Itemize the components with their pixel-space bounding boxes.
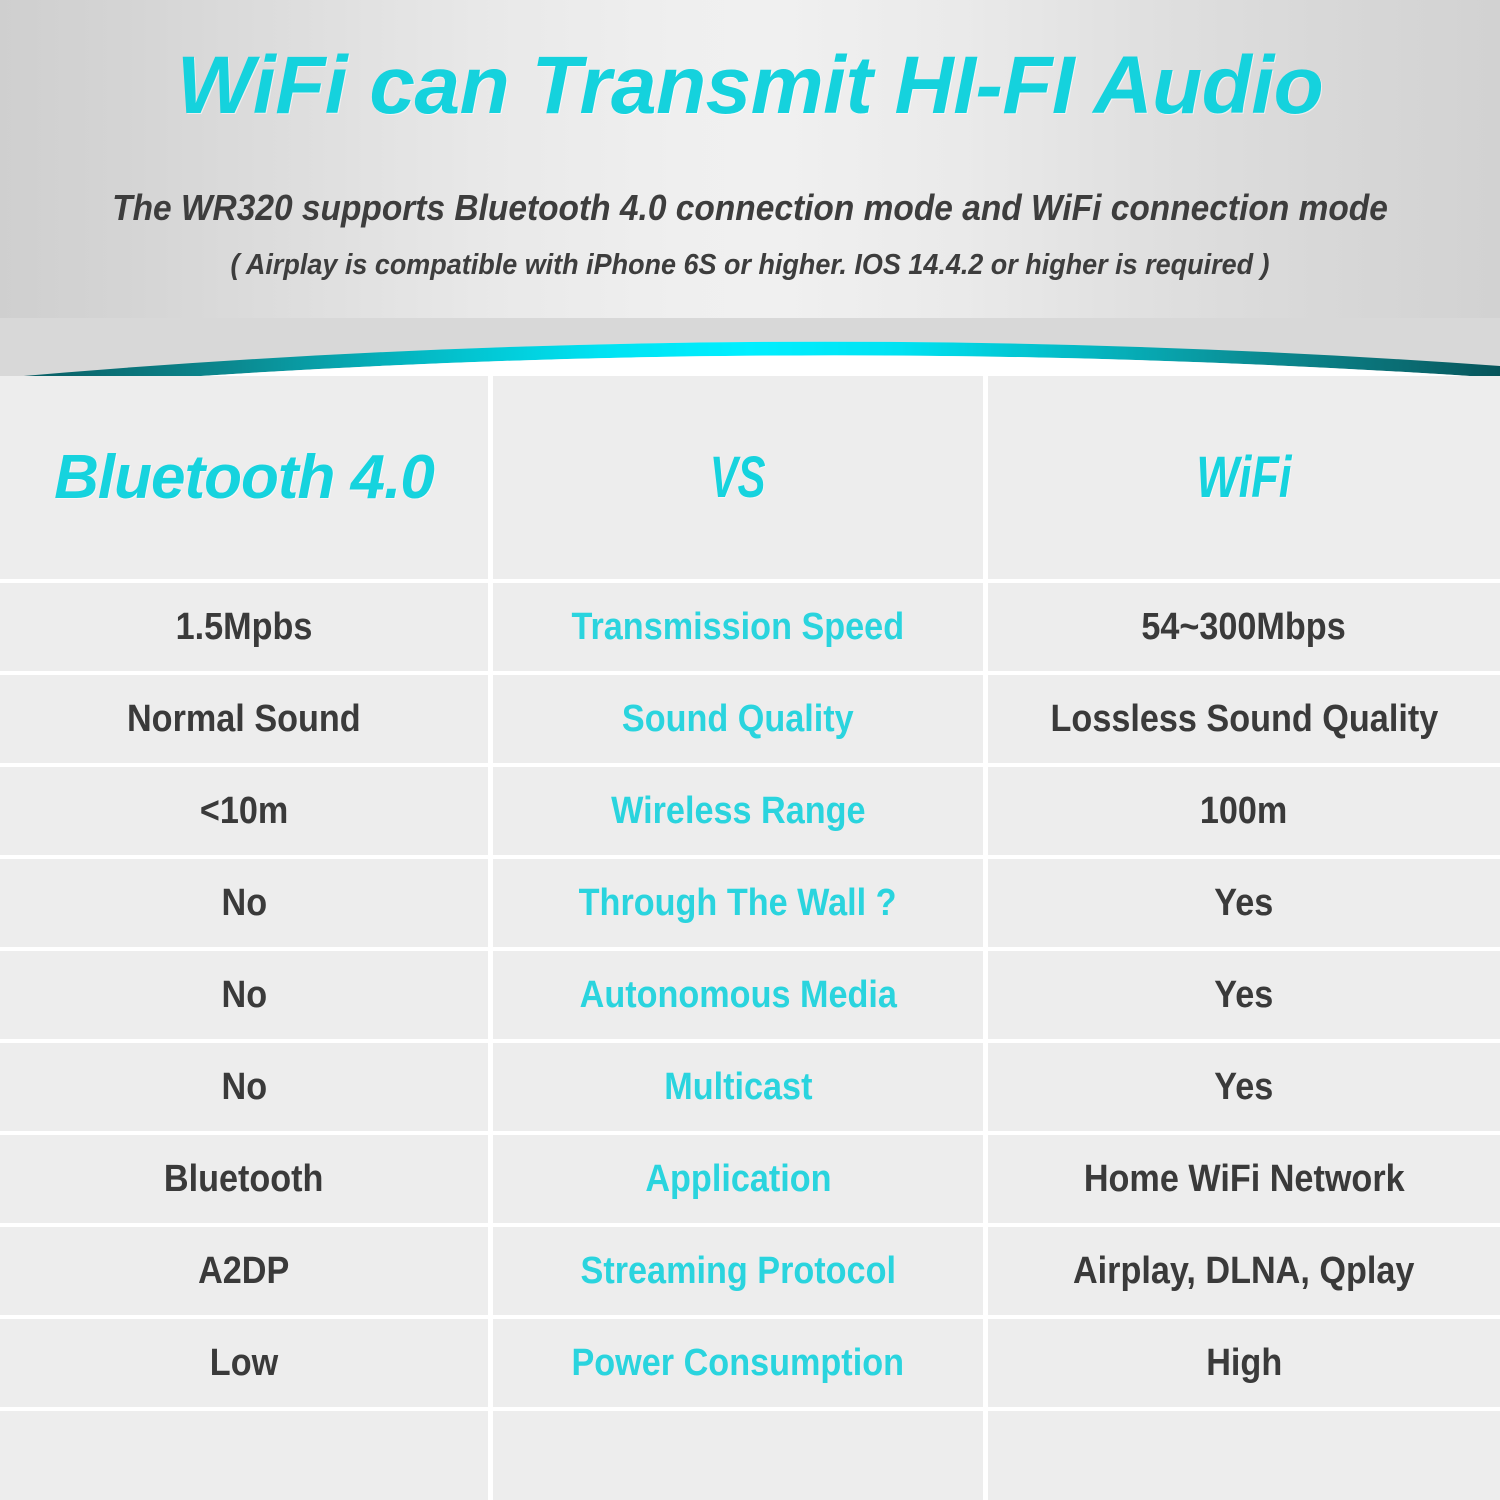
table-body: 1.5MpbsTransmission Speed54~300MbpsNorma… [0, 583, 1500, 1500]
table-cell-bluetooth: 1.5Mpbs [0, 583, 488, 671]
column-header-vs: VS [710, 445, 766, 511]
cell-text-bluetooth: 1.5Mpbs [176, 605, 313, 649]
table-header-row: Bluetooth 4.0 VS WiFi [0, 376, 1500, 579]
comparison-infographic: WiFi can Transmit HI-FI Audio The WR320 … [0, 0, 1500, 1500]
table-cell-wifi: Yes [988, 951, 1500, 1039]
cell-text-wifi: Airplay, DLNA, Qplay [1073, 1249, 1414, 1293]
cell-text-vs: Streaming Protocol [580, 1249, 895, 1293]
table-cell-vs [493, 1411, 983, 1500]
table-header-cell-vs: VS [493, 376, 983, 579]
table-row: NoAutonomous MediaYes [0, 951, 1500, 1039]
cell-text-bluetooth: No [221, 881, 267, 925]
column-header-wifi: WiFi [1196, 445, 1291, 511]
column-header-bluetooth: Bluetooth 4.0 [54, 445, 434, 511]
cell-text-wifi: 100m [1200, 789, 1287, 833]
table-row: Normal SoundSound QualityLossless Sound … [0, 675, 1500, 763]
cell-text-bluetooth: No [221, 973, 267, 1017]
table-cell-wifi: Yes [988, 1043, 1500, 1131]
table-cell-vs: Multicast [493, 1043, 983, 1131]
cell-text-vs: Sound Quality [622, 697, 854, 741]
cell-text-bluetooth: A2DP [198, 1249, 289, 1293]
table-cell-vs: Transmission Speed [493, 583, 983, 671]
cell-text-wifi: 54~300Mbps [1142, 605, 1346, 649]
table-cell-bluetooth: <10m [0, 767, 488, 855]
table-cell-wifi: 54~300Mbps [988, 583, 1500, 671]
table-cell-bluetooth: Low [0, 1319, 488, 1407]
table-cell-vs: Power Consumption [493, 1319, 983, 1407]
table-header-cell-bluetooth: Bluetooth 4.0 [0, 376, 488, 579]
cell-text-wifi: Yes [1215, 881, 1274, 925]
table-cell-vs: Sound Quality [493, 675, 983, 763]
table-cell-vs: Streaming Protocol [493, 1227, 983, 1315]
table-cell-wifi: Home WiFi Network [988, 1135, 1500, 1223]
subtitle-line-2: ( Airplay is compatible with iPhone 6S o… [53, 245, 1448, 285]
table-cell-bluetooth: Bluetooth [0, 1135, 488, 1223]
page-title: WiFi can Transmit HI-FI Audio [0, 38, 1500, 134]
table-cell-bluetooth: No [0, 1043, 488, 1131]
table-row: BluetoothApplicationHome WiFi Network [0, 1135, 1500, 1223]
cell-text-wifi: High [1206, 1341, 1282, 1385]
table-cell-vs: Wireless Range [493, 767, 983, 855]
cell-text-vs: Autonomous Media [579, 973, 896, 1017]
table-cell-vs: Autonomous Media [493, 951, 983, 1039]
table-cell-bluetooth: A2DP [0, 1227, 488, 1315]
table-row: NoThrough The Wall ?Yes [0, 859, 1500, 947]
cell-text-vs: Multicast [664, 1065, 812, 1109]
cell-text-vs: Power Consumption [572, 1341, 905, 1385]
table-cell-wifi [988, 1411, 1500, 1500]
table-cell-wifi: Yes [988, 859, 1500, 947]
table-row: <10mWireless Range100m [0, 767, 1500, 855]
table-cell-vs: Through The Wall ? [493, 859, 983, 947]
table-cell-wifi: 100m [988, 767, 1500, 855]
table-cell-wifi: Airplay, DLNA, Qplay [988, 1227, 1500, 1315]
table-row: 1.5MpbsTransmission Speed54~300Mbps [0, 583, 1500, 671]
table-cell-bluetooth: No [0, 951, 488, 1039]
table-cell-bluetooth [0, 1411, 488, 1500]
table-row: LowPower ConsumptionHigh [0, 1319, 1500, 1407]
header-banner: WiFi can Transmit HI-FI Audio The WR320 … [0, 0, 1500, 376]
cell-text-wifi: Home WiFi Network [1084, 1157, 1405, 1201]
cell-text-vs: Application [645, 1157, 831, 1201]
table-cell-bluetooth: No [0, 859, 488, 947]
cell-text-wifi: Lossless Sound Quality [1050, 697, 1438, 741]
cell-text-bluetooth: Normal Sound [127, 697, 361, 741]
cell-text-wifi: Yes [1215, 1065, 1274, 1109]
table-header-cell-wifi: WiFi [988, 376, 1500, 579]
comparison-table: Bluetooth 4.0 VS WiFi 1.5MpbsTransmissio… [0, 376, 1500, 1500]
cell-text-bluetooth: Bluetooth [164, 1157, 324, 1201]
cell-text-wifi: Yes [1215, 973, 1274, 1017]
table-cell-vs: Application [493, 1135, 983, 1223]
table-row: A2DPStreaming ProtocolAirplay, DLNA, Qpl… [0, 1227, 1500, 1315]
cell-text-vs: Wireless Range [611, 789, 865, 833]
cell-text-bluetooth: No [221, 1065, 267, 1109]
cell-text-bluetooth: Low [210, 1341, 278, 1385]
subtitle-line-1: The WR320 supports Bluetooth 4.0 connect… [53, 185, 1448, 231]
table-row: NoMulticastYes [0, 1043, 1500, 1131]
cell-text-vs: Transmission Speed [572, 605, 905, 649]
table-cell-wifi: Lossless Sound Quality [988, 675, 1500, 763]
table-cell-bluetooth: Normal Sound [0, 675, 488, 763]
table-spacer-row [0, 1411, 1500, 1500]
cell-text-bluetooth: <10m [200, 789, 288, 833]
cell-text-vs: Through The Wall ? [579, 881, 897, 925]
table-cell-wifi: High [988, 1319, 1500, 1407]
